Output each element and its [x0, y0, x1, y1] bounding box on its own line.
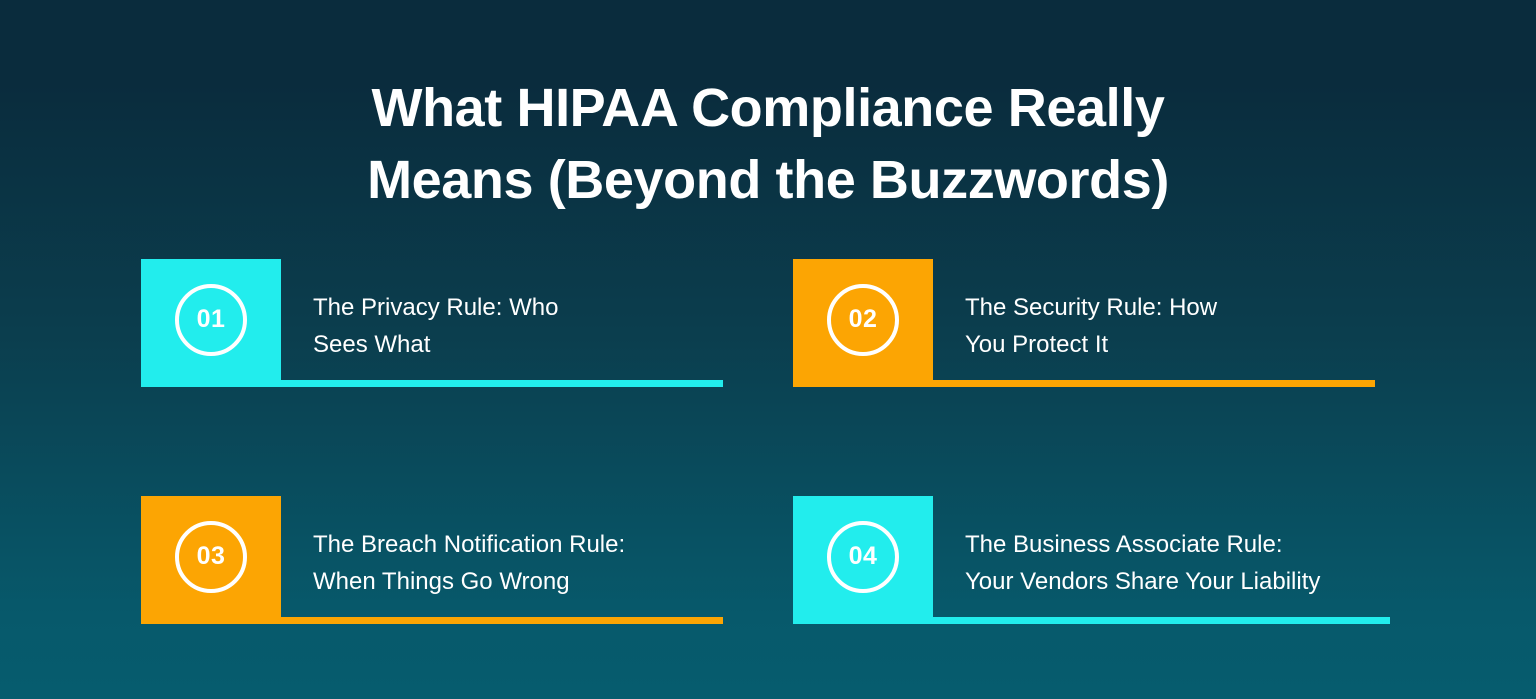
rule-card-line-1: The Privacy Rule: Who: [313, 289, 733, 326]
rule-card-text-02: The Security Rule: How You Protect It: [965, 289, 1385, 363]
rule-number-label: 03: [197, 544, 226, 569]
rule-card-line-1: The Breach Notification Rule:: [313, 526, 733, 563]
badge-circle-icon: 04: [827, 521, 899, 593]
badge-circle-icon: 02: [827, 284, 899, 356]
rule-number-badge-04: 04: [793, 496, 933, 617]
rule-card-02: 02 The Security Rule: How You Protect It: [793, 259, 1375, 387]
rule-card-underline-bar: [793, 617, 1390, 624]
rule-card-underline-bar: [141, 380, 723, 387]
rule-number-badge-01: 01: [141, 259, 281, 380]
rule-card-underline-bar: [141, 617, 723, 624]
page-title-line-1: What HIPAA Compliance Really: [180, 72, 1356, 144]
rule-card-line-2: Sees What: [313, 326, 733, 363]
rule-card-text-03: The Breach Notification Rule: When Thing…: [313, 526, 733, 600]
rule-card-line-2: Your Vendors Share Your Liability: [965, 563, 1405, 600]
rule-card-line-2: When Things Go Wrong: [313, 563, 733, 600]
rule-card-01: 01 The Privacy Rule: Who Sees What: [141, 259, 723, 387]
badge-circle-icon: 01: [175, 284, 247, 356]
rule-number-label: 04: [849, 544, 878, 569]
rule-number-label: 02: [849, 307, 878, 332]
rule-card-03: 03 The Breach Notification Rule: When Th…: [141, 496, 723, 624]
page-title: What HIPAA Compliance Really Means (Beyo…: [0, 72, 1536, 216]
rule-card-underline-bar: [793, 380, 1375, 387]
rule-card-line-2: You Protect It: [965, 326, 1385, 363]
rule-number-badge-03: 03: [141, 496, 281, 617]
rule-card-text-01: The Privacy Rule: Who Sees What: [313, 289, 733, 363]
rule-card-text-04: The Business Associate Rule: Your Vendor…: [965, 526, 1405, 600]
rule-card-line-1: The Business Associate Rule:: [965, 526, 1405, 563]
page-title-line-2: Means (Beyond the Buzzwords): [180, 144, 1356, 216]
rule-number-badge-02: 02: [793, 259, 933, 380]
rule-card-04: 04 The Business Associate Rule: Your Ven…: [793, 496, 1390, 624]
rule-number-label: 01: [197, 307, 226, 332]
rule-card-line-1: The Security Rule: How: [965, 289, 1385, 326]
badge-circle-icon: 03: [175, 521, 247, 593]
